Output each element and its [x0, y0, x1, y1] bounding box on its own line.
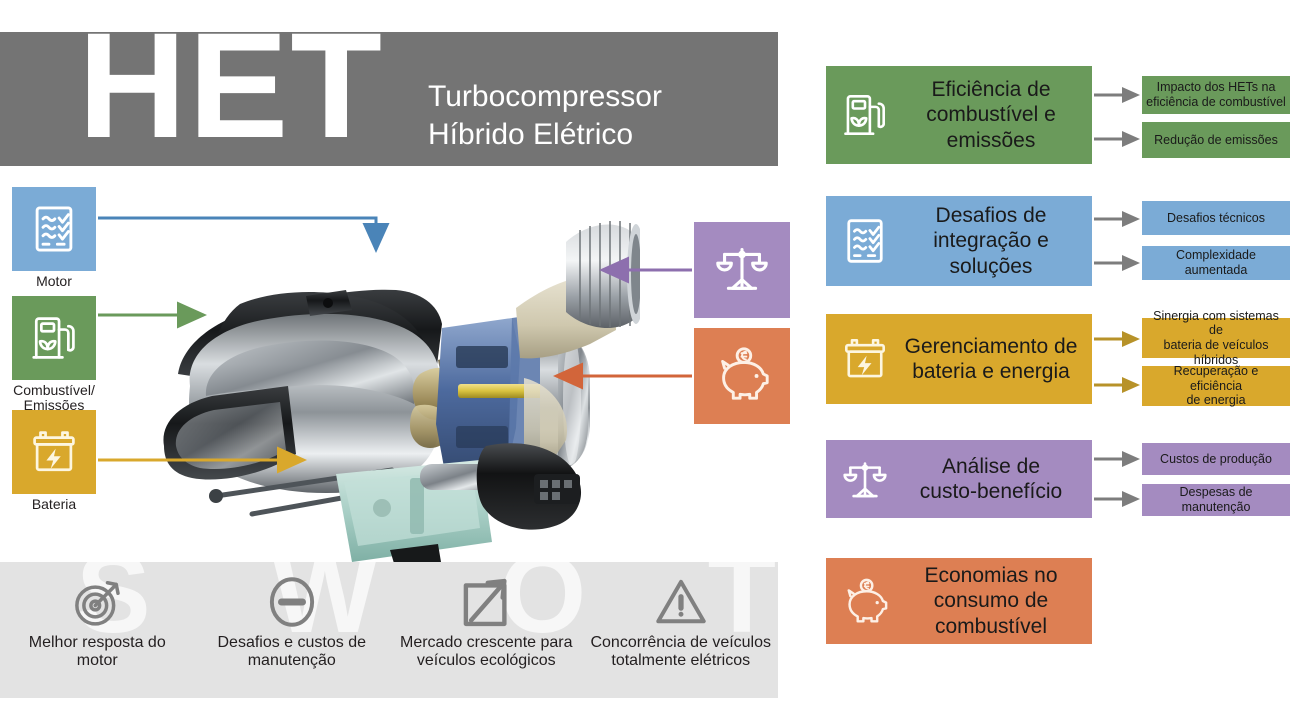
swot-item-label: Desafios e custos de manutenção [217, 634, 366, 671]
left-card-fuel-emissions[interactable]: Combustível/ Emissões [12, 296, 96, 414]
left-connector-arrows [0, 170, 800, 590]
warning-triangle-icon [653, 574, 709, 630]
scales-balance-icon [711, 237, 773, 304]
flow-sub-box[interactable]: Redução de emissões [1142, 122, 1290, 158]
flow-sub-box[interactable]: Impacto dos HETs na eficiência de combus… [1142, 76, 1290, 114]
flow-sub-box[interactable]: Recuperação e eficiência de energia [1142, 366, 1290, 406]
fuel-pump-leaf-icon [834, 84, 896, 146]
connector-motor [98, 218, 376, 250]
minus-circle-icon [264, 574, 320, 630]
flow-arrow [1094, 84, 1142, 106]
flow-sub-box[interactable]: Complexidade aumentada [1142, 246, 1290, 280]
flow-main-box-savings[interactable]: Economias no consumo de combustível [826, 558, 1092, 644]
swot-item-opportunity[interactable]: Mercado crescente para veículos ecológic… [389, 574, 584, 694]
scales-balance-icon [834, 448, 896, 510]
flow-sub-box[interactable]: Despesas de manutenção [1142, 484, 1290, 516]
page-title: HET [78, 32, 384, 160]
piggy-bank-euro-icon [834, 570, 896, 632]
header-banner: HET Turbocompressor Híbrido Elétrico [0, 32, 778, 166]
left-card-label: Bateria [12, 497, 96, 512]
battery-bolt-icon [12, 410, 96, 494]
flow-sub-box[interactable]: Custos de produção [1142, 443, 1290, 475]
flow-arrow [1094, 208, 1142, 230]
target-arrow-icon [69, 574, 125, 630]
swot-item-label: Mercado crescente para veículos ecológic… [400, 634, 573, 671]
swot-item-label: Concorrência de veículos totalmente elét… [590, 634, 771, 671]
flow-main-title: Gerenciamento de bateria e energia [896, 334, 1092, 384]
checklist-icon [12, 187, 96, 271]
flow-sub-box[interactable]: Sinergia com sistemas de bateria de veíc… [1142, 318, 1290, 358]
flow-main-title: Desafios de integração e soluções [896, 203, 1092, 279]
flow-arrow [1094, 328, 1142, 350]
left-card-motor[interactable]: Motor [12, 187, 96, 289]
flow-main-box-integration[interactable]: Desafios de integração e soluções [826, 196, 1092, 286]
swot-item-weakness[interactable]: Desafios e custos de manutenção [195, 574, 390, 694]
flow-arrow [1094, 448, 1142, 470]
infographic-canvas: HET Turbocompressor Híbrido Elétrico [0, 0, 1290, 726]
flow-main-title: Análise de custo-benefício [896, 454, 1092, 504]
flow-main-box-cost-benefit[interactable]: Análise de custo-benefício [826, 440, 1092, 518]
flow-main-box-battery[interactable]: Gerenciamento de bateria e energia [826, 314, 1092, 404]
battery-bolt-icon [834, 328, 896, 390]
header-subtitle: Turbocompressor Híbrido Elétrico [428, 78, 662, 155]
flow-main-title: Eficiência de combustível e emissões [896, 77, 1092, 153]
piggy-bank-euro-icon [711, 343, 773, 410]
flow-main-box-fuel-efficiency[interactable]: Eficiência de combustível e emissões [826, 66, 1092, 164]
left-card-label: Motor [12, 274, 96, 289]
swot-item-strength[interactable]: Melhor resposta do motor [0, 574, 195, 694]
swot-panel: S W O T Melhor resposta do motor [0, 562, 778, 698]
swot-item-label: Melhor resposta do motor [29, 634, 166, 671]
fuel-pump-leaf-icon [12, 296, 96, 380]
mid-card-cost-benefit[interactable] [694, 222, 790, 318]
checklist-icon [834, 210, 896, 272]
mid-card-savings[interactable] [694, 328, 790, 424]
flow-arrow [1094, 252, 1142, 274]
flow-arrow [1094, 128, 1142, 150]
flow-main-title: Economias no consumo de combustível [896, 563, 1092, 639]
left-card-battery[interactable]: Bateria [12, 410, 96, 512]
swot-item-threat[interactable]: Concorrência de veículos totalmente elét… [584, 574, 779, 694]
benefits-flow-column: Eficiência de combustível e emissões Imp… [826, 0, 1290, 726]
flow-arrow [1094, 374, 1142, 396]
growth-arrow-box-icon [458, 574, 514, 630]
flow-sub-box[interactable]: Desafios técnicos [1142, 201, 1290, 235]
swot-items: Melhor resposta do motor Desafios e cust… [0, 574, 778, 694]
flow-arrow [1094, 488, 1142, 510]
